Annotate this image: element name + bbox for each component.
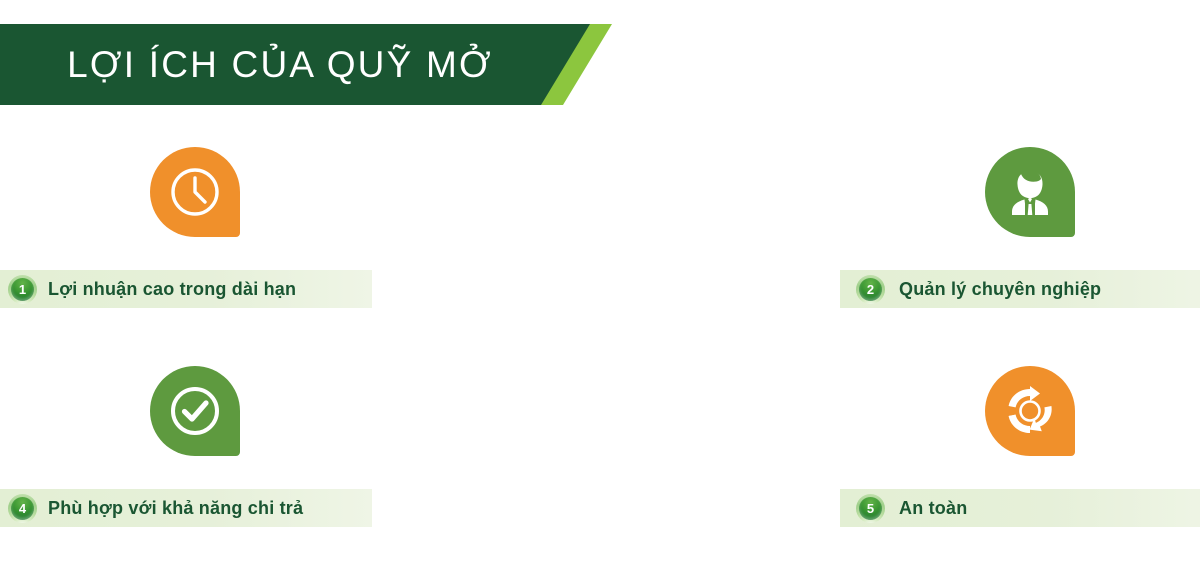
benefit-item-2[interactable]: 2 Quản lý chuyên nghiệp: [420, 130, 840, 349]
benefit-item-3[interactable]: 3 Thanh khoản: [840, 130, 1200, 349]
check-circle-icon: [150, 366, 240, 456]
benefit-1-number-badge: 1: [8, 275, 37, 304]
benefit-4-number-badge: 4: [8, 494, 37, 523]
benefit-1-label-bar[interactable]: 1 Lợi nhuận cao trong dài hạn: [0, 270, 372, 308]
clock-icon: [150, 147, 240, 237]
benefit-item-6[interactable]: 6 Đa dạng hoá: [840, 349, 1200, 568]
benefit-item-4[interactable]: 4 Phù hợp với khả năng chi trả: [0, 349, 420, 568]
benefits-grid: 1 Lợi nhuận cao trong dài hạn: [0, 130, 1200, 579]
benefit-5-icon-area: [420, 366, 840, 471]
benefit-6-icon-area: [840, 366, 1200, 471]
page-title: LỢI ÍCH CỦA QUỸ MỞ: [0, 24, 560, 105]
benefit-1-icon-area: [0, 147, 420, 252]
benefit-item-1[interactable]: 1 Lợi nhuận cao trong dài hạn: [0, 130, 420, 349]
benefit-4-label-bar[interactable]: 4 Phù hợp với khả năng chi trả: [0, 489, 372, 527]
benefit-1-label: Lợi nhuận cao trong dài hạn: [48, 279, 296, 300]
benefits-row-1: 1 Lợi nhuận cao trong dài hạn: [0, 130, 1200, 349]
header-banner: LỢI ÍCH CỦA QUỸ MỞ: [0, 24, 612, 105]
benefit-4-label: Phù hợp với khả năng chi trả: [48, 498, 303, 519]
benefit-2-icon-area: [420, 147, 840, 252]
benefit-4-icon-area: [0, 366, 420, 471]
benefit-3-icon-area: [840, 147, 1200, 252]
benefits-row-2: 4 Phù hợp với khả năng chi trả: [0, 349, 1200, 568]
benefit-item-5[interactable]: 5 An toàn: [420, 349, 840, 568]
